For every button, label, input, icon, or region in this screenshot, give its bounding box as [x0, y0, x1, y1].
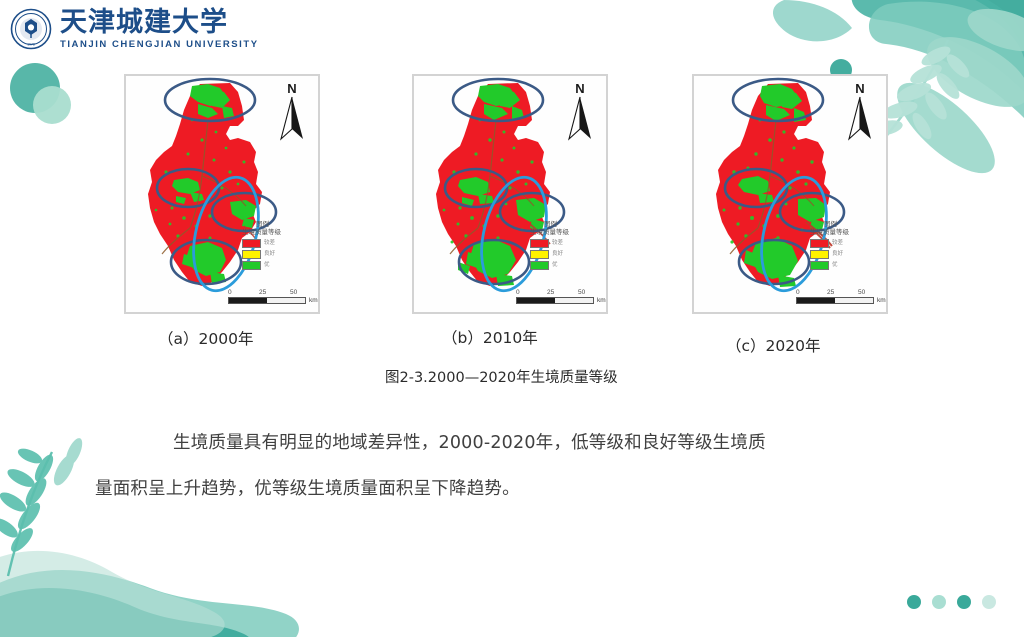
legend-swatch-good [530, 250, 549, 259]
legend-item: 优 [810, 261, 882, 270]
map-caption-2010: （b）2010年 [442, 326, 538, 348]
university-name-en: TIANJIN CHENGJIAN UNIVERSITY [60, 39, 259, 50]
map-legend-2020: 图例 生境质量等级 较差 良好 优 [810, 220, 882, 270]
legend-swatch-good [810, 250, 829, 259]
scale-unit: km [309, 297, 318, 304]
north-arrow-icon [278, 95, 306, 141]
legend-swatch-excellent [242, 261, 261, 270]
pager-dot-2[interactable] [932, 595, 946, 609]
legend-label: 优 [264, 262, 270, 269]
body-paragraph: 生境质量具有明显的地域差异性，2000-2020年，低等级和良好等级生境质 量面… [95, 420, 945, 512]
legend-title: 生境质量等级 [242, 228, 314, 237]
brand-header: 1978 天津城建大学 TIANJIN CHENGJIAN UNIVERSITY [10, 8, 259, 50]
scale-tick: 25 [827, 288, 834, 297]
scale-unit: km [597, 297, 606, 304]
legend-title: 生境质量等级 [810, 228, 882, 237]
legend-item: 较差 [242, 239, 314, 248]
legend-label: 优 [552, 262, 558, 269]
legend-swatch-poor [810, 239, 829, 248]
figure-title: 图2-3.2000—2020年生境质量等级 [385, 366, 618, 387]
body-line-2: 量面积呈上升趋势，优等级生境质量面积呈下降趋势。 [95, 466, 945, 512]
legend-item: 优 [242, 261, 314, 270]
map-scalebar-2010: 0 25 50 km [516, 288, 602, 304]
legend-item: 良好 [530, 250, 602, 259]
legend-title: 生境质量等级 [530, 228, 602, 237]
university-name-cn: 天津城建大学 [60, 9, 259, 37]
map-legend-2010: 图例 生境质量等级 较差 良好 优 [530, 220, 602, 270]
scale-tick: 25 [259, 288, 266, 297]
legend-label: 良好 [552, 251, 563, 258]
legend-swatch-excellent [530, 261, 549, 270]
figure-map-row: N 图例 生境质量等级 较差 良好 [0, 74, 1024, 314]
legend-header: 图例 [544, 220, 602, 228]
legend-swatch-poor [530, 239, 549, 248]
university-seal-icon: 1978 [10, 8, 52, 50]
north-label: N [846, 82, 874, 95]
scale-tick: 50 [290, 288, 297, 297]
svg-text:1978: 1978 [27, 42, 35, 46]
north-label: N [278, 82, 306, 95]
pager-dot-4[interactable] [982, 595, 996, 609]
map-panel-2000: N 图例 生境质量等级 较差 良好 [124, 74, 320, 314]
scale-tick: 0 [516, 288, 520, 297]
legend-label: 较差 [552, 240, 563, 247]
legend-label: 优 [832, 262, 838, 269]
legend-swatch-poor [242, 239, 261, 248]
pager-dots[interactable] [907, 595, 996, 609]
scale-tick: 0 [228, 288, 232, 297]
legend-label: 良好 [264, 251, 275, 258]
legend-header: 图例 [824, 220, 882, 228]
map-panel-2010: N 图例 生境质量等级 较差 良好 [412, 74, 608, 314]
legend-item: 良好 [242, 250, 314, 259]
legend-item: 较差 [530, 239, 602, 248]
north-arrow-group: N [566, 82, 594, 144]
map-caption-2020: （c）2020年 [726, 334, 820, 356]
legend-item: 优 [530, 261, 602, 270]
legend-swatch-good [242, 250, 261, 259]
legend-label: 良好 [832, 251, 843, 258]
north-label: N [566, 82, 594, 95]
legend-header: 图例 [256, 220, 314, 228]
map-caption-2000: （a）2000年 [158, 327, 253, 349]
pager-dot-1[interactable] [907, 595, 921, 609]
map-scalebar-2020: 0 25 50 km [796, 288, 882, 304]
north-arrow-icon [846, 95, 874, 141]
pager-dot-3[interactable] [957, 595, 971, 609]
legend-item: 良好 [810, 250, 882, 259]
north-arrow-group: N [278, 82, 306, 144]
scale-unit: km [877, 297, 886, 304]
legend-label: 较差 [832, 240, 843, 247]
map-scalebar-2000: 0 25 50 km [228, 288, 314, 304]
body-line-1: 生境质量具有明显的地域差异性，2000-2020年，低等级和良好等级生境质 [95, 420, 945, 466]
north-arrow-group: N [846, 82, 874, 144]
slide-canvas: 1978 天津城建大学 TIANJIN CHENGJIAN UNIVERSITY [0, 0, 1024, 637]
legend-swatch-excellent [810, 261, 829, 270]
north-arrow-icon [566, 95, 594, 141]
map-legend-2000: 图例 生境质量等级 较差 良好 优 [242, 220, 314, 270]
legend-label: 较差 [264, 240, 275, 247]
legend-item: 较差 [810, 239, 882, 248]
scale-tick: 50 [858, 288, 865, 297]
scale-tick: 25 [547, 288, 554, 297]
scale-tick: 0 [796, 288, 800, 297]
scale-tick: 50 [578, 288, 585, 297]
map-panel-2020: N 图例 生境质量等级 较差 良好 [692, 74, 888, 314]
